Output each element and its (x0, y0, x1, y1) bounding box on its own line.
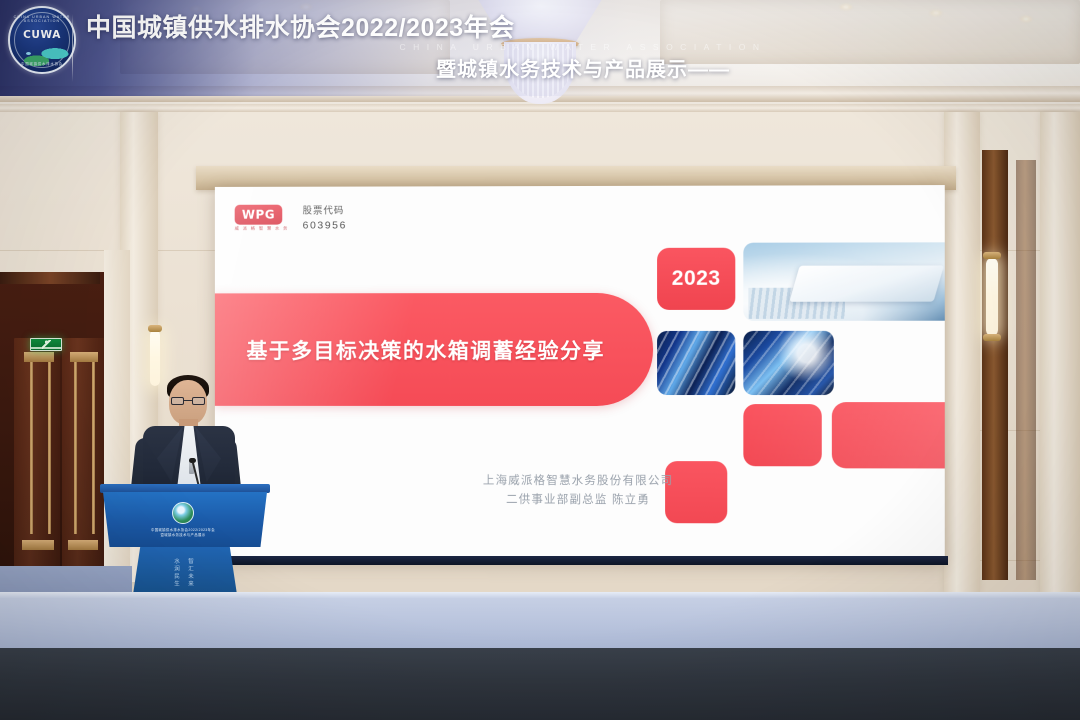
cuwa-logo-arc-top: CHINA URBAN WATER ASSOCIATION (10, 15, 74, 23)
year-tag-text: 2023 (672, 267, 721, 291)
screen-bottom-edge (215, 556, 948, 565)
slide-brand-group: WPG 威 派 格 智 慧 水 务 股票代码 603956 (235, 205, 347, 234)
exit-sign (30, 338, 62, 351)
wall-sconce-cap (983, 334, 1001, 341)
stock-code-value: 603956 (303, 218, 347, 233)
screenshot-root: WPG 威 派 格 智 慧 水 务 股票代码 603956 基于多目标决策的水箱… (0, 0, 1080, 720)
cuwa-logo-icon: CHINA URBAN WATER ASSOCIATION CUWA 中国城镇供… (8, 6, 76, 74)
cuwa-logo-arc-bottom: 中国城镇供水排水协会 (10, 61, 74, 66)
wood-column-far-right (1016, 160, 1036, 580)
header-banner-overlay: CHINA URBAN WATER ASSOCIATION CUWA 中国城镇供… (0, 0, 1080, 96)
pipeline-equipment-photo (657, 331, 735, 395)
wall-sconce-cap-left (148, 325, 162, 332)
slide-title: 基于多目标决策的水箱调蓄经验分享 (247, 334, 605, 364)
glasses-icon (171, 397, 205, 405)
decor-block-wide (832, 402, 945, 468)
header-title: 中国城镇供水排水协会2022/2023年会 (72, 8, 1080, 44)
presenter-name: 二供事业部副总监 陈立勇 (215, 490, 945, 510)
year-tag: 2023 (657, 248, 735, 310)
stock-code-label: 股票代码 (303, 205, 347, 219)
slide-canvas: WPG 威 派 格 智 慧 水 务 股票代码 603956 基于多目标决策的水箱… (215, 185, 945, 564)
podium-cuwa-emblem-icon (172, 502, 194, 524)
stock-code-group: 股票代码 603956 (303, 205, 347, 234)
podium-banner-line2: 暨城镇水务技术与产品展示 (103, 533, 263, 538)
doorway-left (0, 272, 108, 594)
company-name: 上海威派格智慧水务股份有限公司 (215, 472, 945, 492)
slide-title-band: 基于多目标决策的水箱调蓄经验分享 (215, 293, 653, 406)
water-plant-aerial-photo (743, 242, 944, 321)
podium-side-text-b: 智汇未来 (186, 558, 194, 588)
wood-column-right (982, 150, 1008, 580)
podium-top-surface (100, 484, 270, 493)
projection-screen: WPG 威 派 格 智 慧 水 务 股票代码 603956 基于多目标决策的水箱… (215, 185, 945, 564)
stage-platform (0, 592, 1080, 650)
wall-pilaster-far-right (1040, 112, 1080, 592)
podium-side-text-a: 水润民生 (172, 558, 180, 588)
podium-side-text: 水润民生 智汇未来 (172, 558, 194, 588)
header-text-group: 中国城镇供水排水协会2022/2023年会 CHINA URBAN WATER … (72, 8, 1080, 82)
wall-sconce-cap (983, 252, 1001, 259)
wpg-logo-icon: WPG (235, 205, 283, 225)
slide-footer: 上海威派格智慧水务股份有限公司 二供事业部副总监 陈立勇 (215, 472, 945, 511)
cuwa-logo-acronym: CUWA (10, 29, 74, 41)
wpg-logo-subtext: 威 派 格 智 慧 水 务 (235, 227, 289, 231)
stage-front-face (0, 648, 1080, 720)
wall-sconce-light (986, 258, 998, 336)
podium-banner-text: 中国城镇供水排水协会2022/2023年会 暨城镇水务技术与产品展示 (103, 528, 263, 539)
decor-block-mid (743, 404, 821, 466)
wpg-logo-text: WPG (242, 208, 275, 222)
header-subtitle: 暨城镇水务技术与产品展示—— (72, 53, 1080, 82)
stage-edge-highlight (0, 592, 1080, 598)
control-room-photo (743, 331, 834, 395)
